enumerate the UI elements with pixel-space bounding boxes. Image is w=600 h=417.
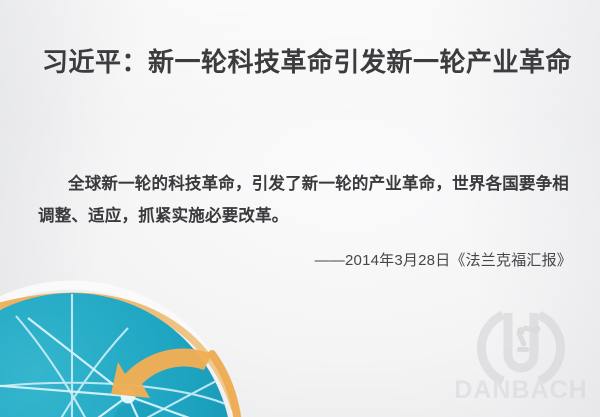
page-title: 习近平：新一轮科技革命引发新一轮产业革命 — [42, 45, 572, 79]
globe-illustration — [0, 258, 322, 417]
robot-arm-icon — [516, 325, 540, 352]
slide-canvas: 习近平：新一轮科技革命引发新一轮产业革命 全球新一轮的科技革命，引发了新一轮的产… — [0, 0, 600, 417]
watermark-brand: DANBACH — [452, 376, 590, 405]
quote-attribution: ——2014年3月28日《法兰克福汇报》 — [315, 249, 572, 273]
network-globe-graphic — [0, 258, 322, 417]
watermark: DANBACH — [452, 309, 590, 415]
quote-body: 全球新一轮的科技革命，引发了新一轮的产业革命，世界各国要争相调整、适应，抓紧实施… — [38, 168, 572, 232]
danbach-robot-arm-circle-logo — [473, 309, 569, 387]
